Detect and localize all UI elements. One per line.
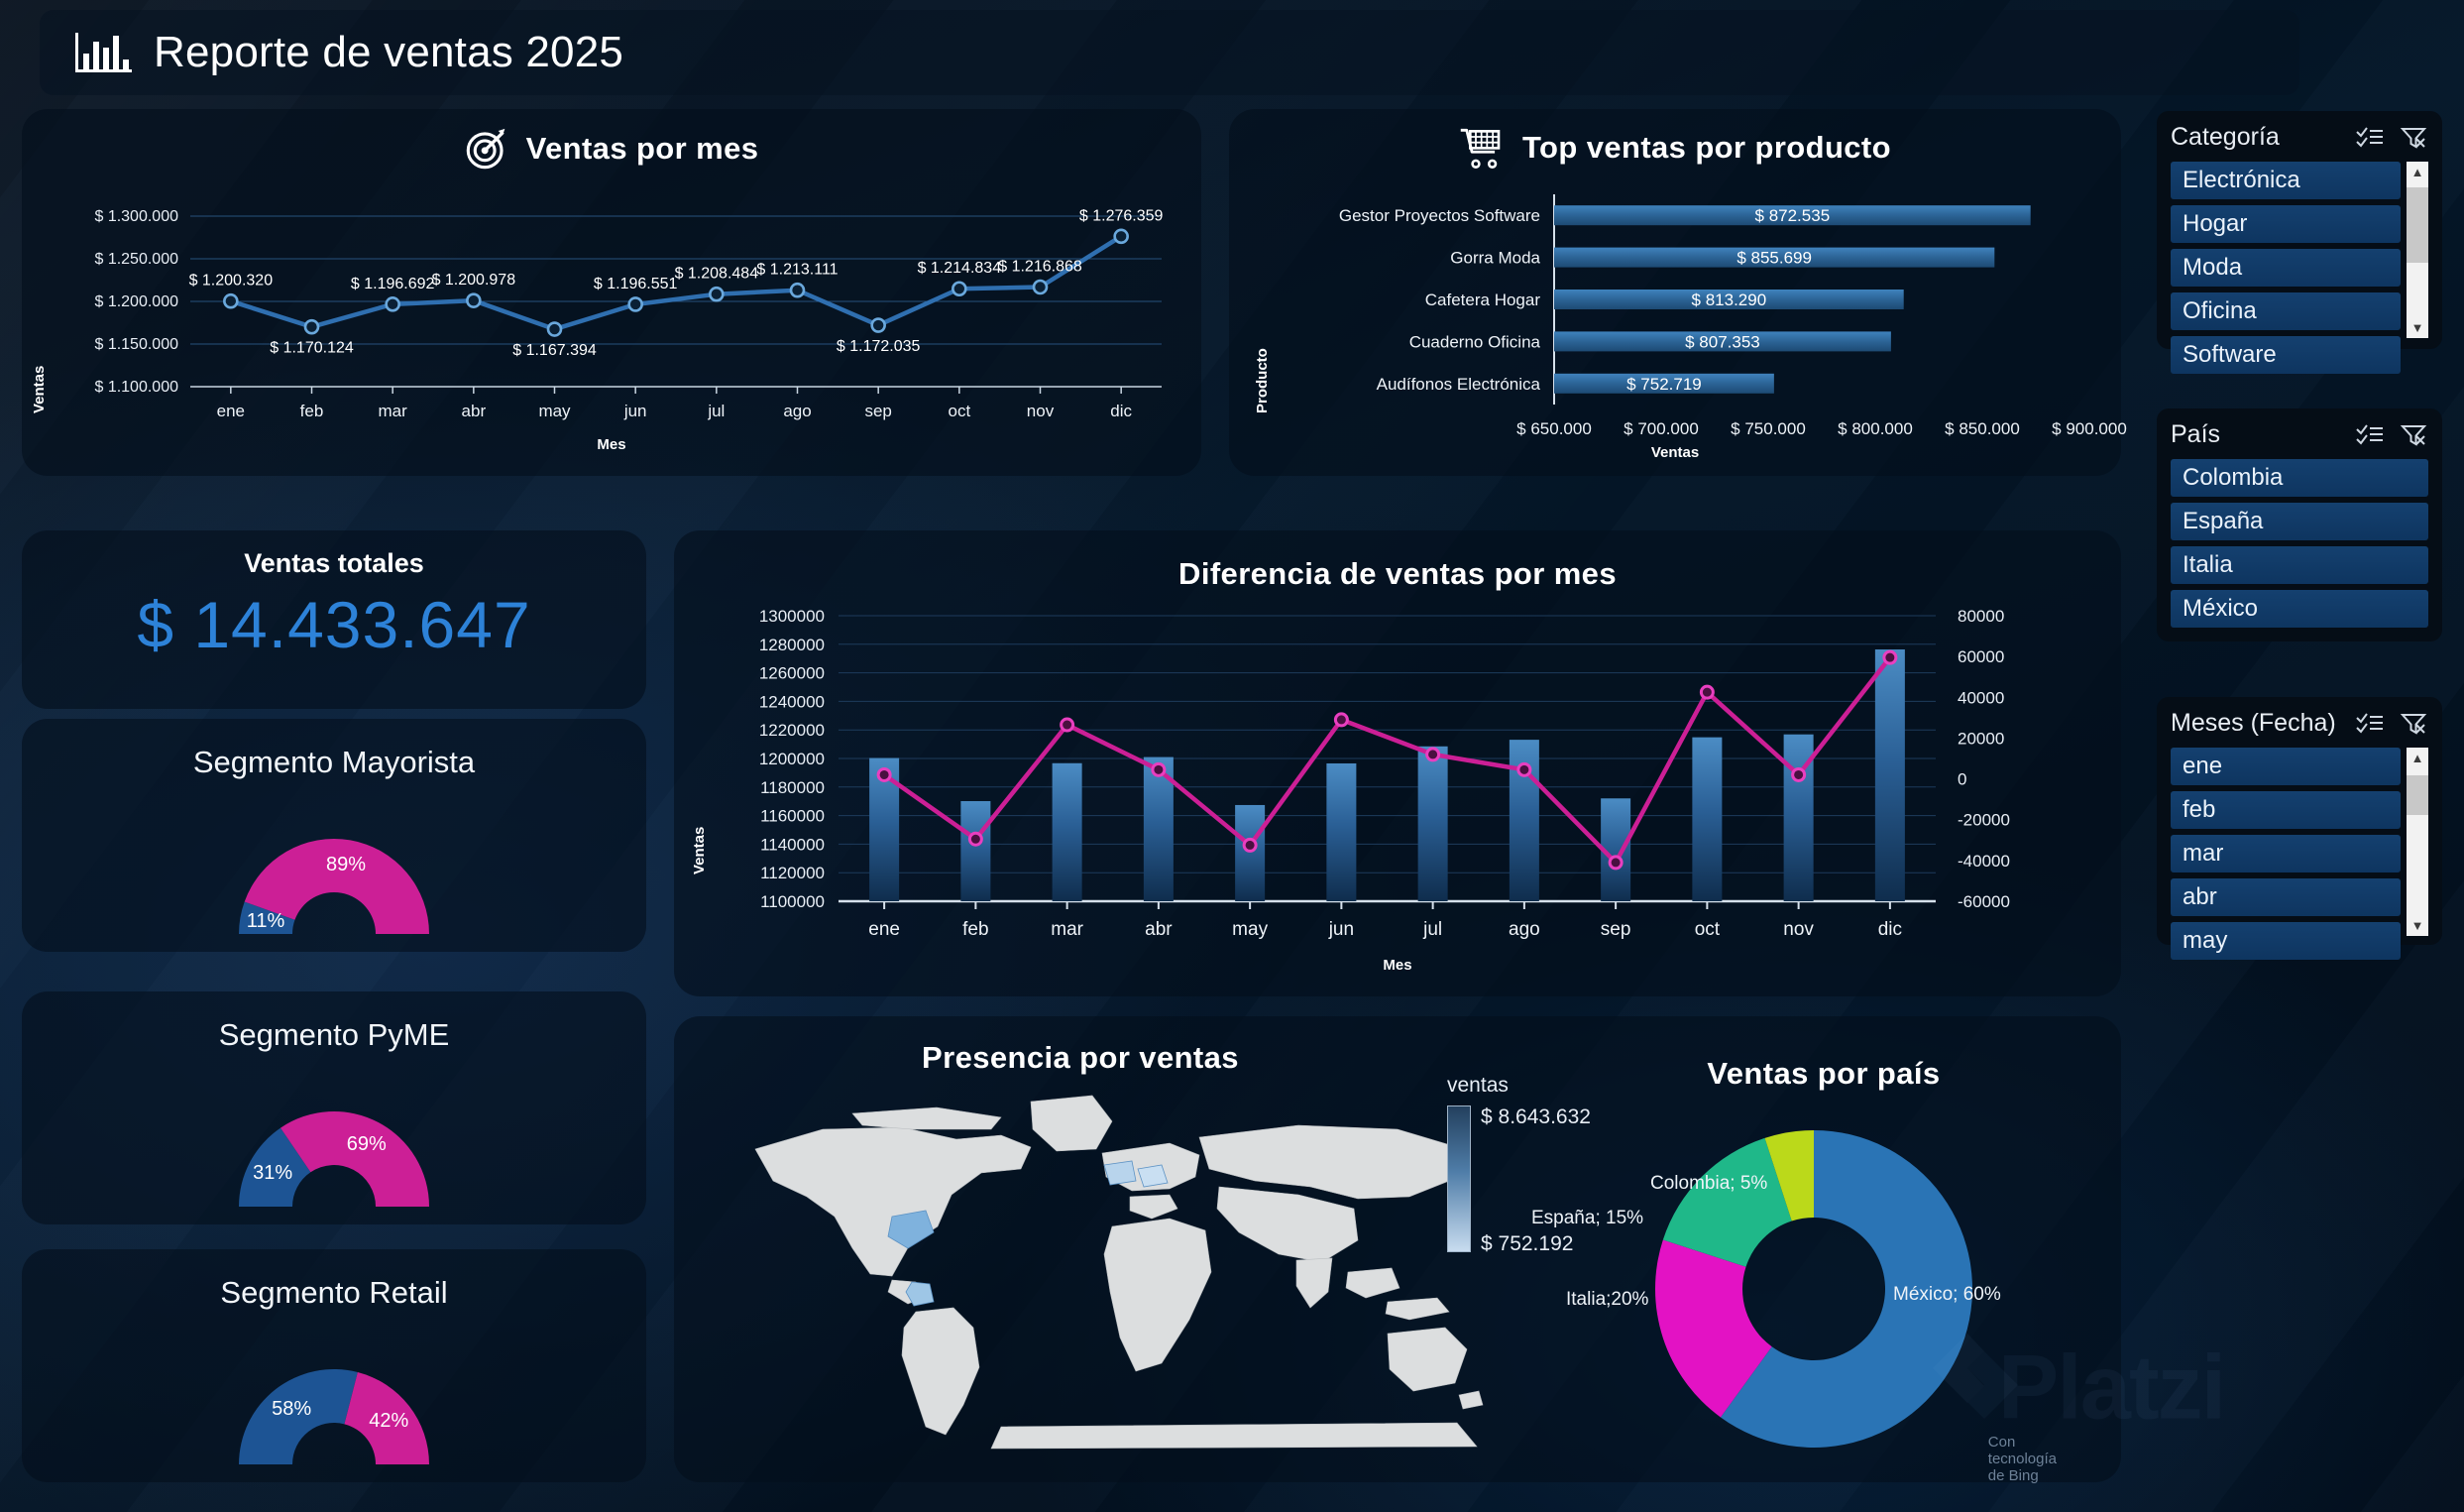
slicer-item-abr[interactable]: abr [2171, 878, 2401, 916]
diferencia-ventas-yaxis-label: Ventas [691, 827, 708, 874]
gauge-card-retail: Segmento Retail 42% 58% [22, 1249, 646, 1482]
svg-text:$ 752.719: $ 752.719 [1626, 375, 1702, 394]
svg-text:jul: jul [707, 402, 725, 420]
svg-text:$ 855.699: $ 855.699 [1736, 249, 1812, 268]
svg-text:feb: feb [962, 919, 988, 940]
slicer-item-colombia[interactable]: Colombia [2171, 459, 2428, 497]
svg-text:Gestor Proyectos Software: Gestor Proyectos Software [1339, 206, 1540, 225]
svg-text:1100000: 1100000 [760, 892, 825, 911]
multi-select-icon[interactable] [2355, 423, 2385, 447]
svg-text:$ 900.000: $ 900.000 [2052, 419, 2127, 438]
svg-text:Cuaderno Oficina: Cuaderno Oficina [1409, 332, 1541, 351]
diferencia-ventas-xaxis-label: Mes [674, 957, 2121, 974]
svg-text:$ 1.196.692: $ 1.196.692 [351, 276, 435, 292]
scroll-up-icon[interactable]: ▲ [2411, 166, 2424, 178]
svg-text:$ 1.200.000: $ 1.200.000 [94, 293, 178, 310]
svg-text:jul: jul [1422, 919, 1442, 940]
donut-label-colombia: Colombia; 5% [1650, 1173, 1767, 1195]
mapa-donut-panel: Presencia por ventas ventas $ 8.643.632 … [674, 1016, 2121, 1482]
slicer-item-espana[interactable]: España [2171, 503, 2428, 540]
slicer-pais-label: País [2171, 420, 2220, 449]
slicer-item-mexico[interactable]: México [2171, 590, 2428, 628]
svg-text:40000: 40000 [1958, 688, 2004, 707]
svg-text:ago: ago [783, 402, 811, 420]
gauge-title-pyme: Segmento PyME [22, 1017, 646, 1053]
top-ventas-producto-xaxis-label: Ventas [1229, 444, 2121, 461]
clear-filter-icon[interactable] [2401, 712, 2428, 736]
gauge-secondary-pct-pyme: 31% [253, 1162, 292, 1185]
ventas-por-pais-title: Ventas por país [1536, 1056, 2111, 1092]
platzi-logo-icon [1923, 1324, 2052, 1453]
svg-text:$ 1.200.320: $ 1.200.320 [189, 273, 274, 290]
diferencia-ventas-title: Diferencia de ventas por mes [674, 556, 2121, 592]
svg-text:jun: jun [1328, 919, 1354, 940]
clear-filter-icon[interactable] [2401, 126, 2428, 150]
top-ventas-producto-plot: Gestor Proyectos Software$ 872.535Gorra … [1247, 188, 2099, 436]
slicer-item-mar[interactable]: mar [2171, 835, 2401, 872]
svg-text:nov: nov [1783, 919, 1814, 940]
ventas-por-mes-xaxis-label: Mes [22, 436, 1201, 453]
svg-text:dic: dic [1878, 919, 1902, 940]
slicer-item-hogar[interactable]: Hogar [2171, 205, 2401, 243]
slicer-item-ene[interactable]: ene [2171, 748, 2401, 785]
svg-text:$ 1.216.868: $ 1.216.868 [998, 258, 1082, 275]
diferencia-ventas-panel: Diferencia de ventas por mes Ventas 1100… [674, 530, 2121, 996]
slicer-meses-scrollbar[interactable]: ▲ ▼ [2407, 748, 2428, 936]
scroll-down-icon[interactable]: ▼ [2411, 919, 2424, 932]
top-ventas-producto-panel: Top ventas por producto Producto Gestor … [1229, 109, 2121, 476]
ventas-totales-card: Ventas totales $ 14.433.647 [22, 530, 646, 709]
svg-text:oct: oct [948, 402, 970, 420]
svg-text:abr: abr [462, 402, 487, 420]
gauge-secondary-pct-mayorista: 11% [247, 910, 285, 933]
dashboard-canvas: Reporte de ventas 2025 Ventas por mes Ve… [0, 0, 2464, 1512]
svg-text:1220000: 1220000 [759, 721, 825, 740]
slicer-item-electronica[interactable]: Electrónica [2171, 162, 2401, 199]
svg-text:$ 1.196.551: $ 1.196.551 [594, 276, 678, 292]
slicer-item-may[interactable]: may [2171, 922, 2401, 960]
diferencia-ventas-plot: 1100000112000011400001160000118000012000… [722, 604, 2099, 961]
svg-text:$ 1.172.035: $ 1.172.035 [837, 338, 921, 355]
world-map[interactable] [704, 1078, 1487, 1454]
svg-text:$ 1.167.394: $ 1.167.394 [512, 342, 597, 359]
svg-text:nov: nov [1027, 402, 1055, 420]
multi-select-icon[interactable] [2355, 126, 2385, 150]
multi-select-icon[interactable] [2355, 712, 2385, 736]
ventas-por-mes-panel: Ventas por mes Ventas $ 1.100.000$ 1.150… [22, 109, 1201, 476]
svg-text:$ 1.276.359: $ 1.276.359 [1079, 207, 1164, 224]
svg-text:1200000: 1200000 [759, 750, 825, 768]
ventas-por-mes-header: Ventas por mes [22, 127, 1201, 171]
svg-text:$ 700.000: $ 700.000 [1624, 419, 1699, 438]
gauge-primary-pct-retail: 42% [369, 1410, 408, 1433]
scroll-down-icon[interactable]: ▼ [2411, 321, 2424, 334]
svg-text:0: 0 [1958, 770, 1966, 789]
gauge-primary-pct-pyme: 69% [347, 1133, 387, 1156]
ventas-totales-value: $ 14.433.647 [22, 587, 646, 662]
slicer-categoria[interactable]: Categoría Electrónica Hogar Moda Oficina [2157, 111, 2442, 349]
slicer-categoria-items: Electrónica Hogar Moda Oficina Software [2171, 162, 2401, 374]
svg-text:60000: 60000 [1958, 647, 2004, 666]
ventas-por-mes-title: Ventas por mes [526, 131, 759, 167]
svg-text:$ 1.150.000: $ 1.150.000 [94, 336, 178, 353]
svg-text:1180000: 1180000 [760, 778, 825, 797]
gauge-title-mayorista: Segmento Mayorista [22, 745, 646, 780]
page-title: Reporte de ventas 2025 [154, 28, 623, 77]
slicer-item-moda[interactable]: Moda [2171, 249, 2401, 287]
svg-text:ene: ene [868, 919, 900, 940]
slicer-pais-header: País [2171, 420, 2428, 449]
donut-label-mexico: México; 60% [1893, 1284, 2001, 1306]
svg-text:mar: mar [1051, 919, 1083, 940]
top-ventas-producto-header: Top ventas por producto [1229, 125, 2121, 171]
svg-text:$ 800.000: $ 800.000 [1838, 419, 1913, 438]
gauge-card-mayorista: Segmento Mayorista 89% 11% [22, 719, 646, 952]
svg-text:$ 1.250.000: $ 1.250.000 [94, 251, 178, 268]
svg-text:1140000: 1140000 [760, 835, 825, 854]
svg-text:$ 650.000: $ 650.000 [1516, 419, 1592, 438]
svg-text:$ 1.200.978: $ 1.200.978 [432, 272, 516, 289]
svg-text:1240000: 1240000 [759, 692, 825, 711]
svg-text:$ 750.000: $ 750.000 [1731, 419, 1806, 438]
svg-text:1160000: 1160000 [760, 807, 825, 826]
svg-text:feb: feb [300, 402, 324, 420]
gauge-pyme: 69% 31% [22, 1086, 646, 1215]
donut-label-espana: España; 15% [1531, 1208, 1643, 1229]
svg-text:ago: ago [1509, 919, 1540, 940]
svg-text:1120000: 1120000 [760, 864, 825, 882]
svg-text:may: may [1232, 919, 1268, 940]
gauge-secondary-pct-retail: 58% [272, 1398, 311, 1421]
ventas-por-mes-plot: $ 1.100.000$ 1.150.000$ 1.200.000$ 1.250… [42, 198, 1181, 466]
donut-label-italia: Italia;20% [1566, 1289, 1648, 1311]
svg-text:dic: dic [1110, 402, 1132, 420]
slicer-meses-items: ene feb mar abr may [2171, 748, 2401, 960]
slicer-item-oficina[interactable]: Oficina [2171, 292, 2401, 330]
slicer-meses-label: Meses (Fecha) [2171, 709, 2336, 738]
svg-text:-20000: -20000 [1958, 811, 2010, 830]
slicer-item-software[interactable]: Software [2171, 336, 2401, 374]
svg-text:1280000: 1280000 [759, 636, 825, 654]
svg-text:1260000: 1260000 [759, 664, 825, 683]
slicer-pais[interactable]: País Colombia España Italia México [2157, 408, 2442, 641]
svg-text:$ 1.170.124: $ 1.170.124 [270, 340, 354, 357]
svg-text:sep: sep [1601, 919, 1631, 940]
slicer-pais-items: Colombia España Italia México [2171, 459, 2428, 628]
ventas-totales-label: Ventas totales [22, 548, 646, 579]
presencia-ventas-title: Presencia por ventas [674, 1040, 1487, 1076]
slicer-categoria-scrollbar[interactable]: ▲ ▼ [2407, 162, 2428, 338]
slicer-categoria-header: Categoría [2171, 123, 2428, 152]
gauge-retail: 42% 58% [22, 1343, 646, 1472]
map-legend-gradient [1447, 1105, 1471, 1252]
svg-text:$ 1.214.834: $ 1.214.834 [918, 260, 1002, 277]
slicer-item-italia[interactable]: Italia [2171, 546, 2428, 584]
svg-text:Gorra Moda: Gorra Moda [1450, 249, 1540, 268]
svg-text:$ 850.000: $ 850.000 [1945, 419, 2020, 438]
svg-text:$ 813.290: $ 813.290 [1692, 291, 1767, 309]
target-icon [465, 127, 508, 171]
svg-text:abr: abr [1145, 919, 1173, 940]
slicer-categoria-label: Categoría [2171, 123, 2280, 152]
svg-text:1300000: 1300000 [759, 607, 825, 626]
gauge-title-retail: Segmento Retail [22, 1275, 646, 1311]
slicer-meses-header: Meses (Fecha) [2171, 709, 2428, 738]
svg-text:$ 1.100.000: $ 1.100.000 [94, 379, 178, 396]
svg-text:sep: sep [864, 402, 891, 420]
gauge-primary-pct-mayorista: 89% [326, 854, 366, 876]
svg-text:20000: 20000 [1958, 729, 2004, 748]
slicer-item-feb[interactable]: feb [2171, 791, 2401, 829]
svg-text:$ 1.213.111: $ 1.213.111 [756, 262, 838, 279]
svg-text:-60000: -60000 [1958, 892, 2010, 911]
clear-filter-icon[interactable] [2401, 423, 2428, 447]
svg-text:Cafetera Hogar: Cafetera Hogar [1425, 291, 1541, 309]
slicer-meses[interactable]: Meses (Fecha) ene feb mar abr may [2157, 697, 2442, 945]
svg-text:may: may [538, 402, 571, 420]
shopping-cart-icon [1459, 125, 1505, 171]
top-ventas-producto-title: Top ventas por producto [1522, 130, 1891, 166]
gauge-card-pyme: Segmento PyME 69% 31% [22, 991, 646, 1224]
dashboard-header: Reporte de ventas 2025 [40, 10, 2299, 95]
svg-text:$ 872.535: $ 872.535 [1755, 206, 1831, 225]
svg-text:mar: mar [379, 402, 408, 420]
svg-text:Audífonos Electrónica: Audífonos Electrónica [1377, 375, 1541, 394]
bar-chart-icon [75, 33, 132, 72]
svg-text:oct: oct [1695, 919, 1721, 940]
svg-text:$ 807.353: $ 807.353 [1685, 332, 1760, 351]
gauge-mayorista: 89% 11% [22, 813, 646, 942]
svg-text:jun: jun [623, 402, 647, 420]
svg-text:$ 1.300.000: $ 1.300.000 [94, 208, 178, 225]
svg-text:80000: 80000 [1958, 607, 2004, 626]
svg-text:$ 1.208.484: $ 1.208.484 [675, 266, 759, 283]
scroll-up-icon[interactable]: ▲ [2411, 752, 2424, 764]
svg-text:ene: ene [217, 402, 245, 420]
svg-text:-40000: -40000 [1958, 852, 2010, 871]
